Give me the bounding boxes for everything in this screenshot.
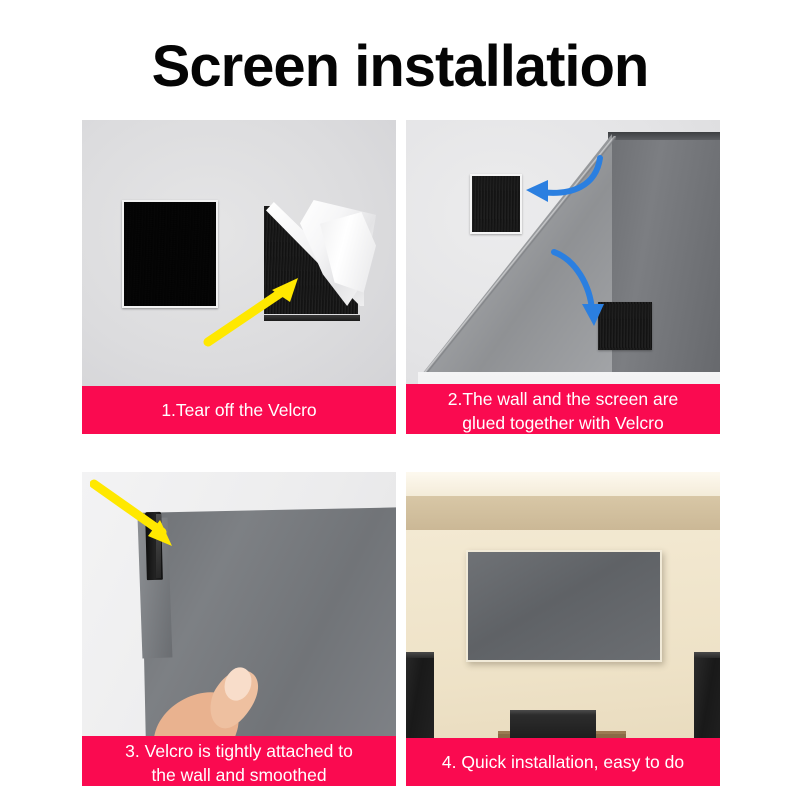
- ceiling: [406, 472, 720, 496]
- step-2-caption-line-2: glued together with Velcro: [406, 411, 720, 434]
- step-2-panel[interactable]: 2.The wall and the screen are glued toge…: [406, 120, 720, 434]
- step-3-caption-line-2: the wall and smoothed: [82, 763, 396, 786]
- center-unit-top: [510, 710, 596, 715]
- step-3-caption: 3. Velcro is tightly attached to the wal…: [82, 736, 396, 786]
- step-1-caption: 1.Tear off the Velcro: [82, 386, 396, 434]
- installation-infographic: Screen installation 1: [0, 0, 800, 800]
- curved-arrow-down-icon: [546, 246, 610, 332]
- step-2-caption: 2.The wall and the screen are glued toge…: [406, 384, 720, 434]
- step-1-panel[interactable]: 1.Tear off the Velcro: [82, 120, 396, 434]
- step-4-caption-line-1: 4. Quick installation, easy to do: [406, 750, 720, 774]
- step-4-panel[interactable]: 4. Quick installation, easy to do: [406, 472, 720, 786]
- velcro-square-on-wall: [470, 174, 522, 234]
- soffit: [406, 496, 720, 530]
- step-3-panel[interactable]: 3. Velcro is tightly attached to the wal…: [82, 472, 396, 786]
- step-1-caption-line-1: 1.Tear off the Velcro: [82, 398, 396, 422]
- step-2-caption-line-1: 2.The wall and the screen are: [406, 387, 720, 411]
- step-4-caption: 4. Quick installation, easy to do: [406, 738, 720, 786]
- curved-arrow-left-icon: [518, 152, 608, 208]
- speaker-top: [694, 652, 720, 658]
- page-title: Screen installation: [0, 36, 800, 98]
- steps-grid: 1.Tear off the Velcro: [82, 120, 720, 786]
- screen-top-edge: [608, 132, 720, 140]
- step-3-caption-line-1: 3. Velcro is tightly attached to: [82, 739, 396, 763]
- mounted-projection-screen: [466, 550, 662, 662]
- arrow-down-right-icon: [90, 478, 186, 558]
- arrow-up-right-icon: [202, 268, 312, 348]
- speaker-top: [406, 652, 434, 658]
